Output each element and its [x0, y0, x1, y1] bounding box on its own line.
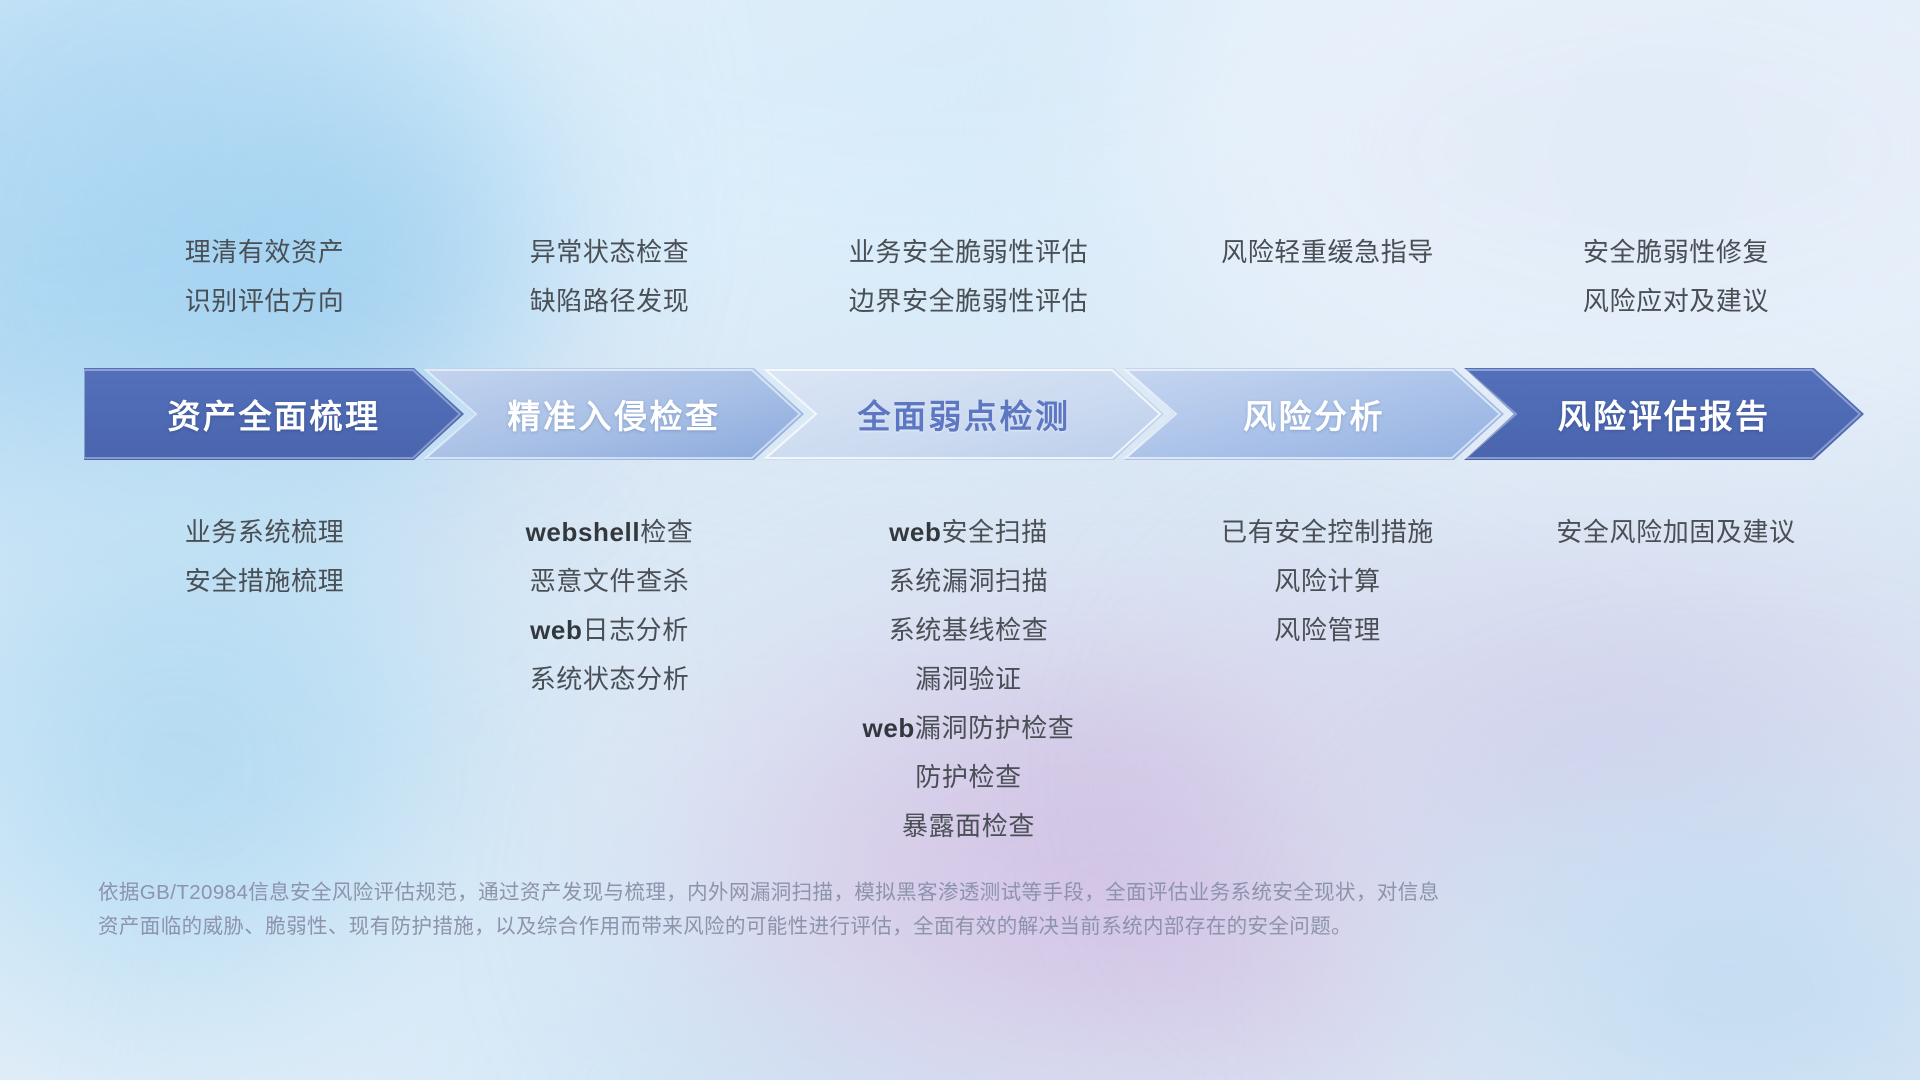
top-item: 风险应对及建议	[1500, 277, 1852, 326]
top-item: 风险轻重缓急指导	[1155, 228, 1500, 277]
process-diagram: 理清有效资产 识别评估方向 异常状态检查 缺陷路径发现 业务安全脆弱性评估 边界…	[0, 0, 1920, 1080]
top-column-asset-inventory: 理清有效资产 识别评估方向	[92, 228, 437, 326]
stage-chevron-weakness-detection[interactable]: 全面弱点检测	[764, 368, 1164, 460]
stage-label: 资产全面梳理	[168, 390, 381, 438]
detail-item-prefix: web	[530, 615, 582, 645]
detail-item: 安全措施梳理	[92, 557, 437, 606]
detail-item-text: 检查	[640, 517, 693, 547]
process-chevron-band: 资产全面梳理 精准入侵检查	[84, 368, 1864, 460]
top-item: 安全脆弱性修复	[1500, 228, 1852, 277]
detail-item: webshell检查	[437, 508, 782, 557]
footer-line-2: 资产面临的威胁、脆弱性、现有防护措施，以及综合作用而带来风险的可能性进行评估，全…	[98, 910, 1618, 944]
top-descriptor-row: 理清有效资产 识别评估方向 异常状态检查 缺陷路径发现 业务安全脆弱性评估 边界…	[92, 228, 1852, 326]
top-column-weakness-detection: 业务安全脆弱性评估 边界安全脆弱性评估	[782, 228, 1155, 326]
detail-item-prefix: webshell	[526, 517, 641, 547]
detail-item-text: 漏洞防护检查	[915, 713, 1075, 743]
detail-item-prefix: web	[863, 713, 915, 743]
stage-chevron-intrusion-check[interactable]: 精准入侵检查	[424, 368, 804, 460]
stage-label: 风险分析	[1243, 390, 1385, 438]
detail-item: 风险管理	[1155, 606, 1500, 655]
bottom-column-assessment-report: 安全风险加固及建议	[1500, 508, 1852, 851]
top-item: 理清有效资产	[92, 228, 437, 277]
stage-label: 精准入侵检查	[508, 390, 721, 438]
detail-item: 恶意文件查杀	[437, 557, 782, 606]
detail-item-text: 日志分析	[582, 615, 688, 645]
bottom-column-risk-analysis: 已有安全控制措施 风险计算 风险管理	[1155, 508, 1500, 851]
footer-note: 依据GB/T20984信息安全风险评估规范，通过资产发现与梳理，内外网漏洞扫描，…	[98, 876, 1618, 944]
bottom-detail-row: 业务系统梳理 安全措施梳理 webshell检查 恶意文件查杀 web日志分析 …	[92, 508, 1852, 851]
top-item: 异常状态检查	[437, 228, 782, 277]
stage-chevron-risk-analysis[interactable]: 风险分析	[1124, 368, 1504, 460]
detail-item: 漏洞验证	[782, 655, 1155, 704]
detail-item: 暴露面检查	[782, 802, 1155, 851]
bottom-column-asset-inventory: 业务系统梳理 安全措施梳理	[92, 508, 437, 851]
detail-item: 业务系统梳理	[92, 508, 437, 557]
detail-item-prefix: web	[889, 517, 941, 547]
top-item: 业务安全脆弱性评估	[782, 228, 1155, 277]
detail-item: 风险计算	[1155, 557, 1500, 606]
detail-item: web漏洞防护检查	[782, 704, 1155, 753]
top-column-intrusion-check: 异常状态检查 缺陷路径发现	[437, 228, 782, 326]
bottom-column-intrusion-check: webshell检查 恶意文件查杀 web日志分析 系统状态分析	[437, 508, 782, 851]
detail-item-text: 安全扫描	[941, 517, 1047, 547]
top-item: 缺陷路径发现	[437, 277, 782, 326]
detail-item: 系统状态分析	[437, 655, 782, 704]
footer-line-1: 依据GB/T20984信息安全风险评估规范，通过资产发现与梳理，内外网漏洞扫描，…	[98, 876, 1618, 910]
stage-chevron-asset-inventory[interactable]: 资产全面梳理	[84, 368, 464, 460]
top-column-risk-analysis: 风险轻重缓急指导	[1155, 228, 1500, 326]
detail-item: 安全风险加固及建议	[1500, 508, 1852, 557]
stage-label: 风险评估报告	[1558, 390, 1771, 438]
top-column-assessment-report: 安全脆弱性修复 风险应对及建议	[1500, 228, 1852, 326]
detail-item: 防护检查	[782, 753, 1155, 802]
detail-item: 系统基线检查	[782, 606, 1155, 655]
detail-item: web日志分析	[437, 606, 782, 655]
bottom-column-weakness-detection: web安全扫描 系统漏洞扫描 系统基线检查 漏洞验证 web漏洞防护检查 防护检…	[782, 508, 1155, 851]
stage-label: 全面弱点检测	[858, 390, 1071, 438]
top-item: 边界安全脆弱性评估	[782, 277, 1155, 326]
stage-chevron-assessment-report[interactable]: 风险评估报告	[1464, 368, 1864, 460]
detail-item: 已有安全控制措施	[1155, 508, 1500, 557]
top-item: 识别评估方向	[92, 277, 437, 326]
detail-item: web安全扫描	[782, 508, 1155, 557]
detail-item: 系统漏洞扫描	[782, 557, 1155, 606]
